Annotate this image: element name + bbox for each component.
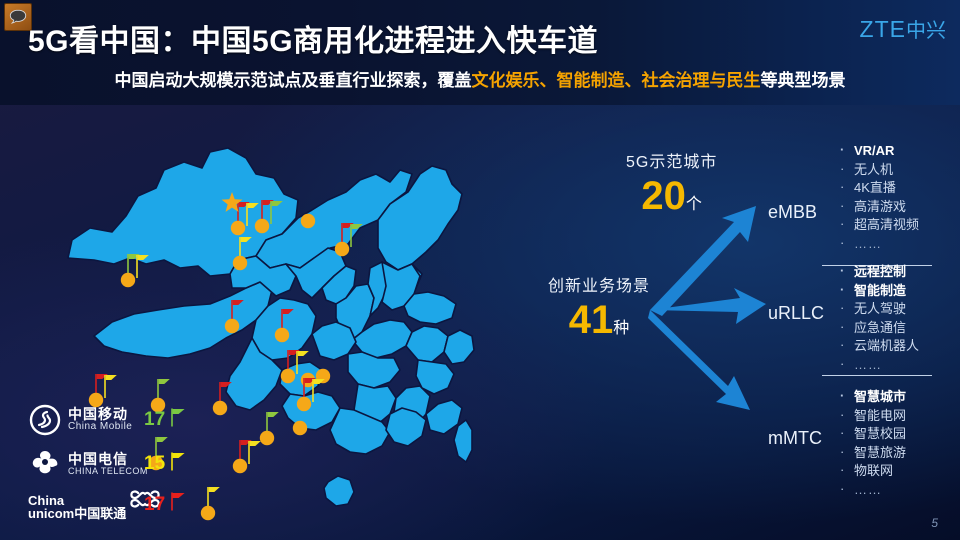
list-item-label: 无人机 (854, 162, 893, 177)
bullet-icon: · (840, 461, 844, 480)
map-marker (233, 440, 261, 473)
list-item: ·VR/AR (838, 142, 919, 161)
map-city-dot (281, 369, 295, 383)
list-item: ·远程控制 (838, 263, 919, 282)
map-flag-yellow (137, 255, 149, 278)
list-item: ·4K直播 (838, 179, 919, 198)
list-item: ·智慧城市 (838, 388, 906, 407)
bullet-icon: · (840, 355, 845, 374)
list-item: ·智能制造 (838, 282, 919, 301)
list-item: ·智慧校园 (838, 425, 906, 444)
map-city-dot (121, 273, 135, 287)
map-marker (275, 309, 294, 342)
category-tag: uRLLC (768, 303, 824, 324)
carrier-list: 中国移动 China Mobile 17 中国电信 CHINA TELECOM … (28, 398, 228, 530)
category-tag: mMTC (768, 428, 822, 449)
list-item-label: …… (854, 236, 882, 251)
map-city-dot (335, 242, 349, 256)
map-city-dot (293, 421, 307, 435)
list-item-label: 远程控制 (854, 264, 906, 279)
slide-header: 5G看中国：中国5G商用化进程进入快车道 ZTE中兴 中国启动大规模示范试点及垂… (0, 0, 960, 105)
map-city-dot (275, 328, 289, 342)
map-marker (225, 300, 244, 333)
map-flag-yellow (249, 441, 261, 464)
zte-logo-latin: ZTE (860, 16, 906, 42)
map-marker (255, 200, 283, 233)
page-number: 5 (931, 516, 938, 530)
carrier-names: 中国移动 China Mobile (68, 407, 132, 432)
bullet-icon: · (840, 160, 844, 179)
carrier-names: 中国电信 CHINA TELECOM (68, 452, 148, 476)
carrier-count: 15 (144, 453, 165, 475)
map-city-dot (225, 319, 239, 333)
list-item-label: 智慧城市 (854, 389, 906, 404)
list-item-label: 物联网 (854, 463, 893, 478)
map-city-dot (233, 459, 247, 473)
zte-logo-cn: 中兴 (906, 20, 946, 42)
subtitle-text: 等典型场景 (761, 71, 846, 90)
map-marker (293, 421, 307, 435)
bullet-icon: · (840, 480, 845, 499)
list-item: ·超高清视频 (838, 216, 919, 235)
bullet-icon: · (840, 281, 844, 300)
carrier-flag-icon (170, 452, 188, 477)
map-city-dot (301, 214, 315, 228)
list-item-label: 超高清视频 (854, 217, 919, 232)
list-item: ·…… (838, 235, 919, 254)
carrier-name-en-2: unicom中国联通 (28, 507, 126, 520)
map-marker (222, 192, 243, 212)
list-item: ·无人驾驶 (838, 300, 919, 319)
zte-logo: ZTE中兴 (860, 14, 946, 43)
bullet-icon: · (840, 406, 844, 425)
list-item: ·云端机器人 (838, 337, 919, 356)
stat-caption: 5G示范城市 (626, 148, 717, 172)
stat-number: 41 (569, 298, 614, 342)
carrier-row-china-unicom: China unicom中国联通 17 (28, 486, 228, 530)
fan-arrows (648, 200, 788, 420)
stat-unit: 种 (613, 320, 629, 337)
category-tag: eMBB (768, 202, 817, 223)
list-item-label: …… (854, 482, 882, 497)
carrier-flag-icon (170, 492, 188, 517)
list-item-label: 智能制造 (854, 283, 906, 298)
carrier-names: China unicom中国联通 (28, 494, 126, 520)
bullet-icon: · (840, 336, 844, 355)
list-item: ·物联网 (838, 462, 906, 481)
category-item-list: ·VR/AR ·无人机 ·4K直播 ·高清游戏 ·超高清视频 ·…… (838, 142, 919, 253)
china-telecom-logo (28, 447, 62, 481)
carrier-name-en: China Mobile (68, 422, 132, 433)
carrier-count: 17 (144, 409, 165, 431)
china-mobile-logo (28, 403, 62, 437)
slide-root: 5G看中国：中国5G商用化进程进入快车道 ZTE中兴 中国启动大规模示范试点及垂… (0, 0, 960, 540)
carrier-count: 17 (144, 494, 165, 516)
list-item-label: 智慧旅游 (854, 445, 906, 460)
stat-value-row: 41种 (548, 298, 650, 343)
carrier-row-china-telecom: 中国电信 CHINA TELECOM 15 (28, 442, 228, 486)
bullet-icon: · (840, 443, 844, 462)
list-item: ·…… (838, 356, 919, 375)
map-marker (335, 223, 363, 256)
list-item-label: 云端机器人 (854, 338, 919, 353)
page-title: 5G看中国：中国5G商用化进程进入快车道 (28, 16, 598, 60)
bullet-icon: · (840, 424, 844, 443)
list-item: ·应急通信 (838, 319, 919, 338)
list-item-label: 智慧校园 (854, 426, 906, 441)
map-city-dot (297, 397, 311, 411)
carrier-name-en: CHINA TELECOM (68, 467, 148, 476)
list-item-label: 无人驾驶 (854, 301, 906, 316)
carrier-flag-icon (170, 408, 188, 433)
list-item: ·无人机 (838, 161, 919, 180)
map-flag-yellow (105, 375, 117, 398)
map-marker (233, 237, 252, 270)
list-item-label: VR/AR (854, 143, 894, 158)
category-item-list: ·远程控制 ·智能制造 ·无人驾驶 ·应急通信 ·云端机器人 ·…… (838, 263, 919, 374)
bullet-icon: · (840, 299, 844, 318)
carrier-row-china-mobile: 中国移动 China Mobile 17 (28, 398, 228, 442)
bullet-icon: · (840, 178, 844, 197)
slide-subtitle: 中国启动大规模示范试点及垂直行业探索，覆盖文化娱乐、智能制造、社会治理与民生等典… (0, 66, 960, 91)
map-city-dot (260, 431, 274, 445)
bullet-icon: · (840, 387, 844, 406)
category-divider-2 (822, 375, 932, 376)
list-item-label: 4K直播 (854, 180, 896, 195)
list-item-label: 应急通信 (854, 320, 906, 335)
subtitle-text: 中国启动大规模示范试点及垂直行业探索，覆盖 (115, 71, 472, 90)
stat-caption: 创新业务场景 (548, 272, 650, 296)
map-city-dot (255, 219, 269, 233)
bullet-icon: · (840, 234, 845, 253)
bullet-icon: · (840, 141, 844, 160)
list-item-label: 高清游戏 (854, 199, 906, 214)
map-marker (121, 254, 149, 287)
bullet-icon: · (840, 197, 844, 216)
capital-star-icon (222, 192, 243, 212)
map-flag-yellow (297, 351, 309, 374)
stat-innovative-scenarios: 创新业务场景 41种 (548, 272, 650, 343)
list-item: ·智慧旅游 (838, 444, 906, 463)
carrier-name-cn: 中国移动 (68, 407, 132, 422)
list-item: ·高清游戏 (838, 198, 919, 217)
map-city-dot (233, 256, 247, 270)
map-city-dot (231, 221, 245, 235)
carrier-name-cn: 中国电信 (68, 452, 148, 467)
map-flag-green (351, 224, 363, 247)
map-flag-green (271, 201, 283, 224)
bullet-icon: · (840, 262, 844, 281)
list-item-label: 智能电网 (854, 408, 906, 423)
bullet-icon: · (840, 318, 844, 337)
list-item-label: …… (854, 357, 882, 372)
list-item: ·…… (838, 481, 906, 500)
list-item: ·智能电网 (838, 407, 906, 426)
map-marker (301, 214, 315, 228)
subtitle-highlight: 文化娱乐、智能制造、社会治理与民生 (472, 71, 761, 90)
map-marker (260, 412, 279, 445)
bullet-icon: · (840, 215, 844, 234)
category-item-list: ·智慧城市 ·智能电网 ·智慧校园 ·智慧旅游 ·物联网 ·…… (838, 388, 906, 499)
